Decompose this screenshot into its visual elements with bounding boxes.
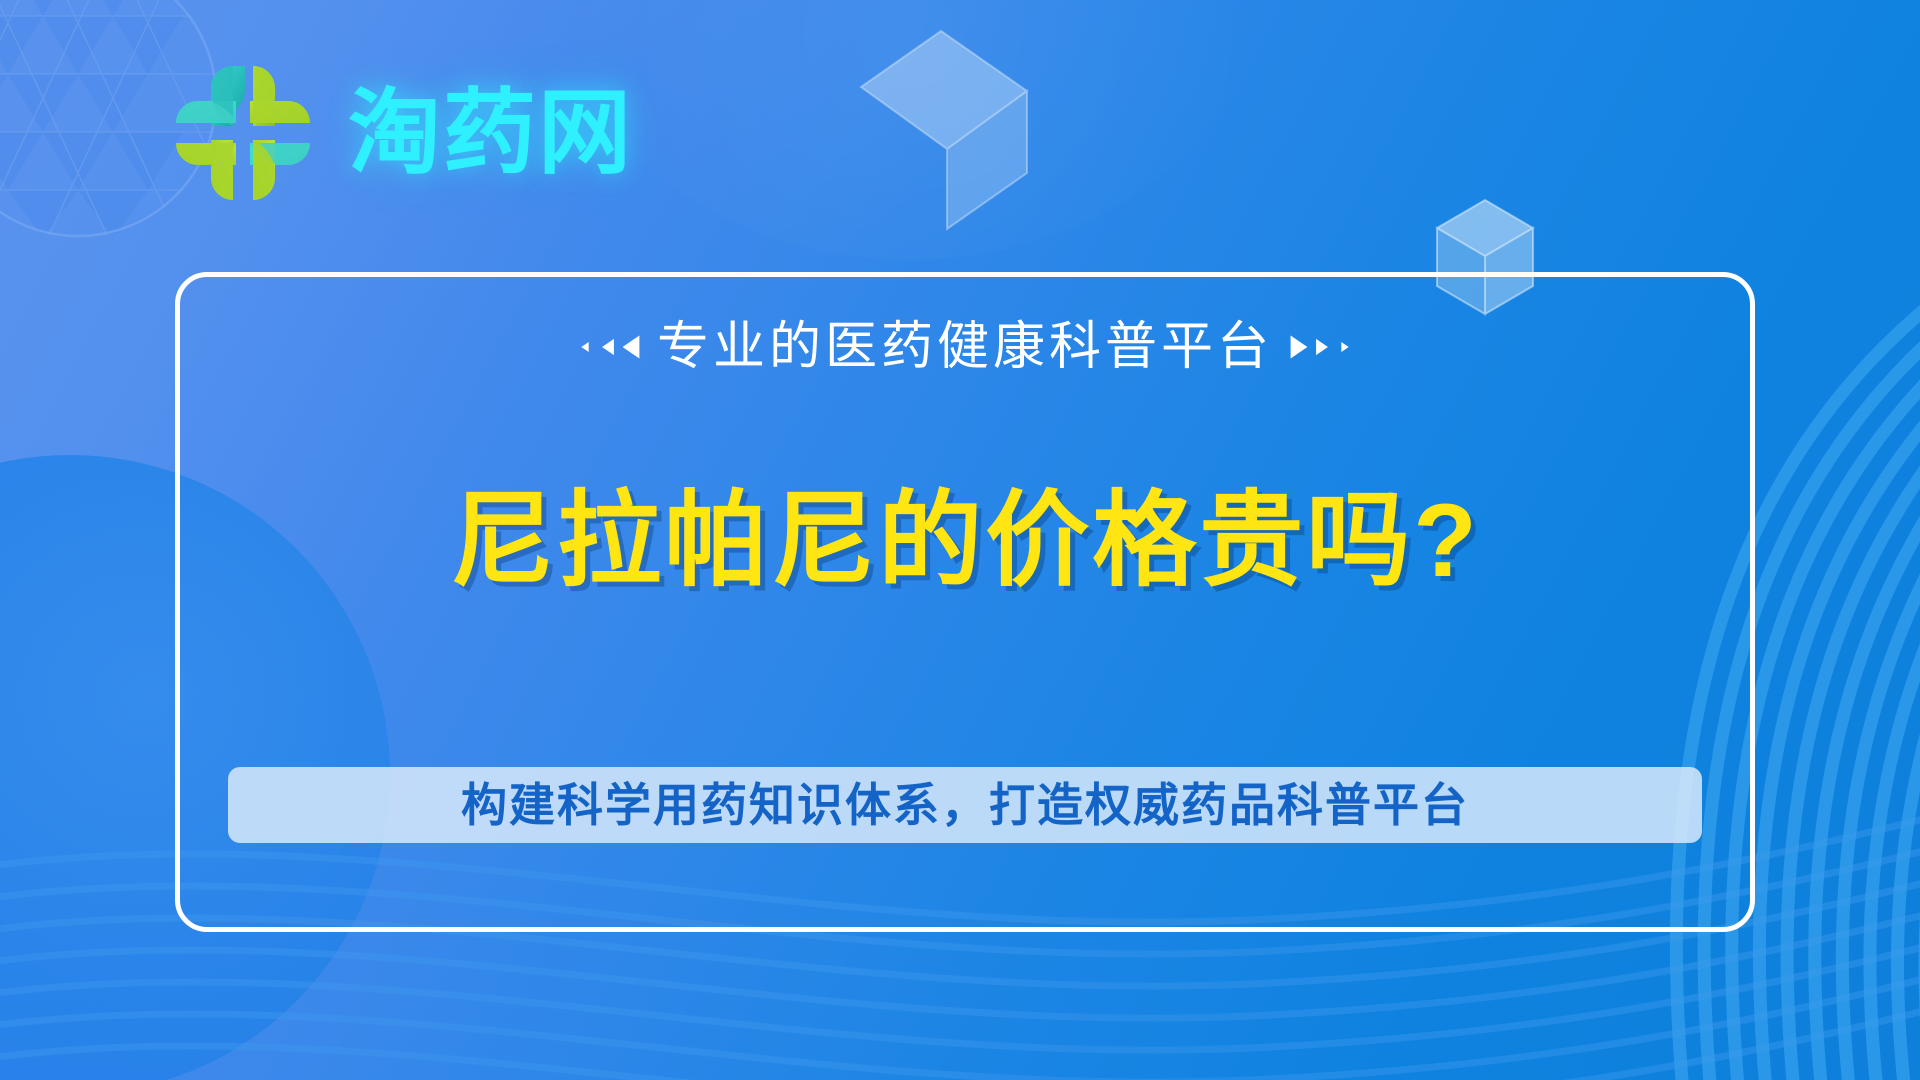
- triangle-right-icon: [1316, 339, 1328, 355]
- triangle-right-icon-group: [1291, 336, 1353, 358]
- triangle-left-icon-group: [577, 336, 639, 358]
- triangle-left-icon: [581, 342, 588, 352]
- content-card: 专业的医药健康科普平台 尼拉帕尼的价格贵吗? 构建科学用药知识体系，打造权威药品…: [175, 272, 1755, 932]
- slogan-text: 构建科学用药知识体系，打造权威药品科普平台: [461, 782, 1469, 828]
- medical-cross-leaf-logo-icon: [168, 58, 318, 208]
- brand-name: 淘药网: [348, 87, 633, 180]
- promo-banner: 淘药网 专业的医药健康科普平台 尼拉帕尼的价格贵吗? 构建科学用药知识体系，打造…: [0, 0, 1920, 1080]
- slogan-bar: 构建科学用药知识体系，打造权威药品科普平台: [228, 767, 1702, 843]
- tagline-row: 专业的医药健康科普平台: [180, 321, 1750, 373]
- triangle-left-icon: [623, 335, 640, 358]
- tagline-text: 专业的医药健康科普平台: [657, 321, 1273, 373]
- soft-glow-blob: [560, 0, 1260, 260]
- triangle-left-icon: [602, 339, 614, 355]
- triangle-right-icon: [1291, 335, 1308, 358]
- isometric-cube-icon: [855, 25, 1033, 235]
- page-title: 尼拉帕尼的价格贵吗?: [180, 487, 1750, 596]
- triangle-right-icon: [1341, 342, 1348, 352]
- brand-logo[interactable]: 淘药网: [168, 58, 633, 208]
